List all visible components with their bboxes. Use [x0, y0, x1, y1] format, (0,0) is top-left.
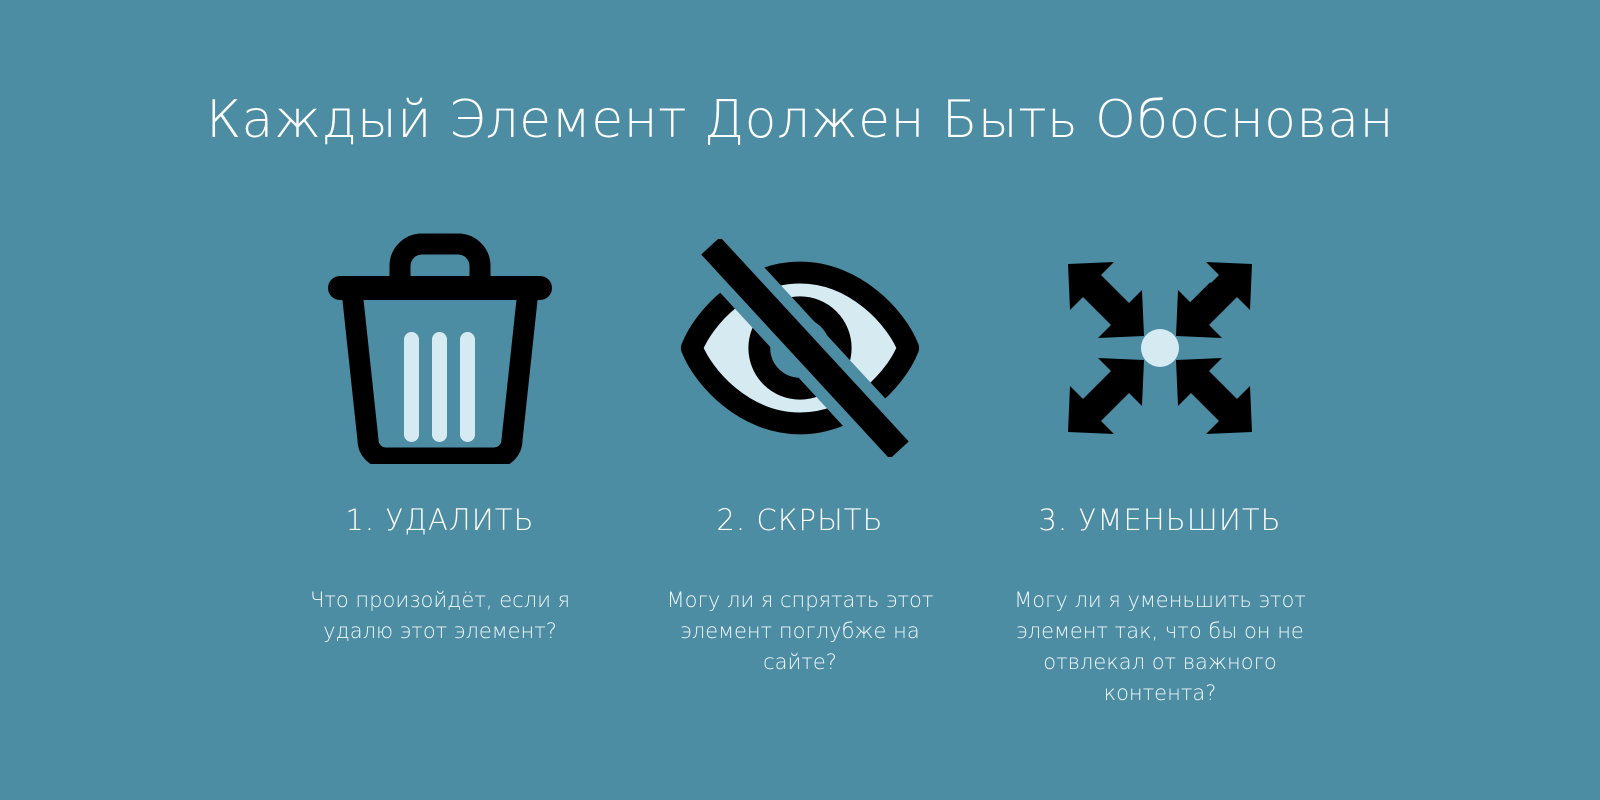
step-column-hide: 2. СКРЫТЬ Могу ли я спрятать этот элемен…	[620, 228, 980, 678]
step-description-hide: Могу ли я спрятать этот элемент поглубже…	[650, 585, 950, 678]
eye-slash-icon	[670, 228, 930, 468]
step-label-delete: 1. УДАЛИТЬ	[345, 504, 534, 537]
trash-icon	[310, 228, 570, 468]
step-column-delete: 1. УДАЛИТЬ Что произойдёт, если я удалю …	[260, 228, 620, 647]
page-title: Каждый Элемент Должен Быть Обоснован	[0, 92, 1600, 149]
shrink-arrows-icon	[1030, 228, 1290, 468]
step-label-shrink: 3. УМЕНЬШИТЬ	[1038, 504, 1281, 537]
step-column-shrink: 3. УМЕНЬШИТЬ Могу ли я уменьшить этот эл…	[980, 228, 1340, 709]
slide-root: Каждый Элемент Должен Быть Обоснован	[0, 0, 1600, 800]
step-label-hide: 2. СКРЫТЬ	[716, 504, 883, 537]
step-description-delete: Что произойдёт, если я удалю этот элемен…	[290, 585, 590, 647]
step-description-shrink: Могу ли я уменьшить этот элемент так, чт…	[1000, 585, 1320, 709]
steps-row: 1. УДАЛИТЬ Что произойдёт, если я удалю …	[0, 228, 1600, 709]
